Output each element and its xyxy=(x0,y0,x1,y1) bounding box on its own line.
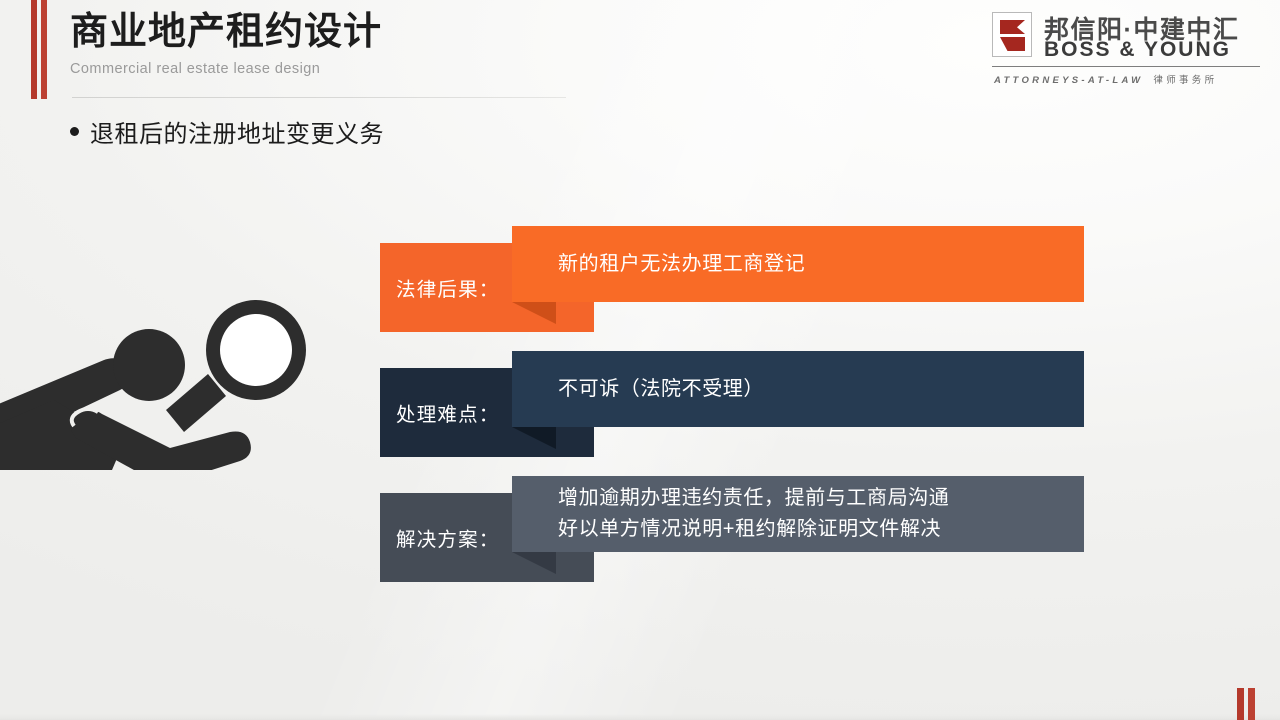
row-label-text: 法律后果： xyxy=(396,273,500,302)
row-label-text: 解决方案： xyxy=(396,523,500,552)
footer-accent-bar-1 xyxy=(1237,688,1244,720)
footer-accent-bar-2 xyxy=(1248,688,1255,720)
content-rows: 法律后果： 新的租户无法办理工商登记 处理难点： 不可诉（法院不受理） 解决方案… xyxy=(0,0,1280,720)
row-content-box[interactable]: 增加逾期办理违约责任，提前与工商局沟通 好以单方情况说明+租约解除证明文件解决 xyxy=(512,476,1084,552)
footer-accent-bars xyxy=(1237,688,1259,720)
row-content-box[interactable]: 不可诉（法院不受理） xyxy=(512,351,1084,427)
row-content-box[interactable]: 新的租户无法办理工商登记 xyxy=(512,226,1084,302)
row-label-text: 处理难点： xyxy=(396,398,500,427)
row-content-text: 新的租户无法办理工商登记 xyxy=(558,249,805,280)
row-content-text: 不可诉（法院不受理） xyxy=(558,374,764,405)
row-content-text: 增加逾期办理违约责任，提前与工商局沟通 好以单方情况说明+租约解除证明文件解决 xyxy=(558,483,949,545)
slide-canvas: 商业地产租约设计 Commercial real estate lease de… xyxy=(0,0,1280,720)
